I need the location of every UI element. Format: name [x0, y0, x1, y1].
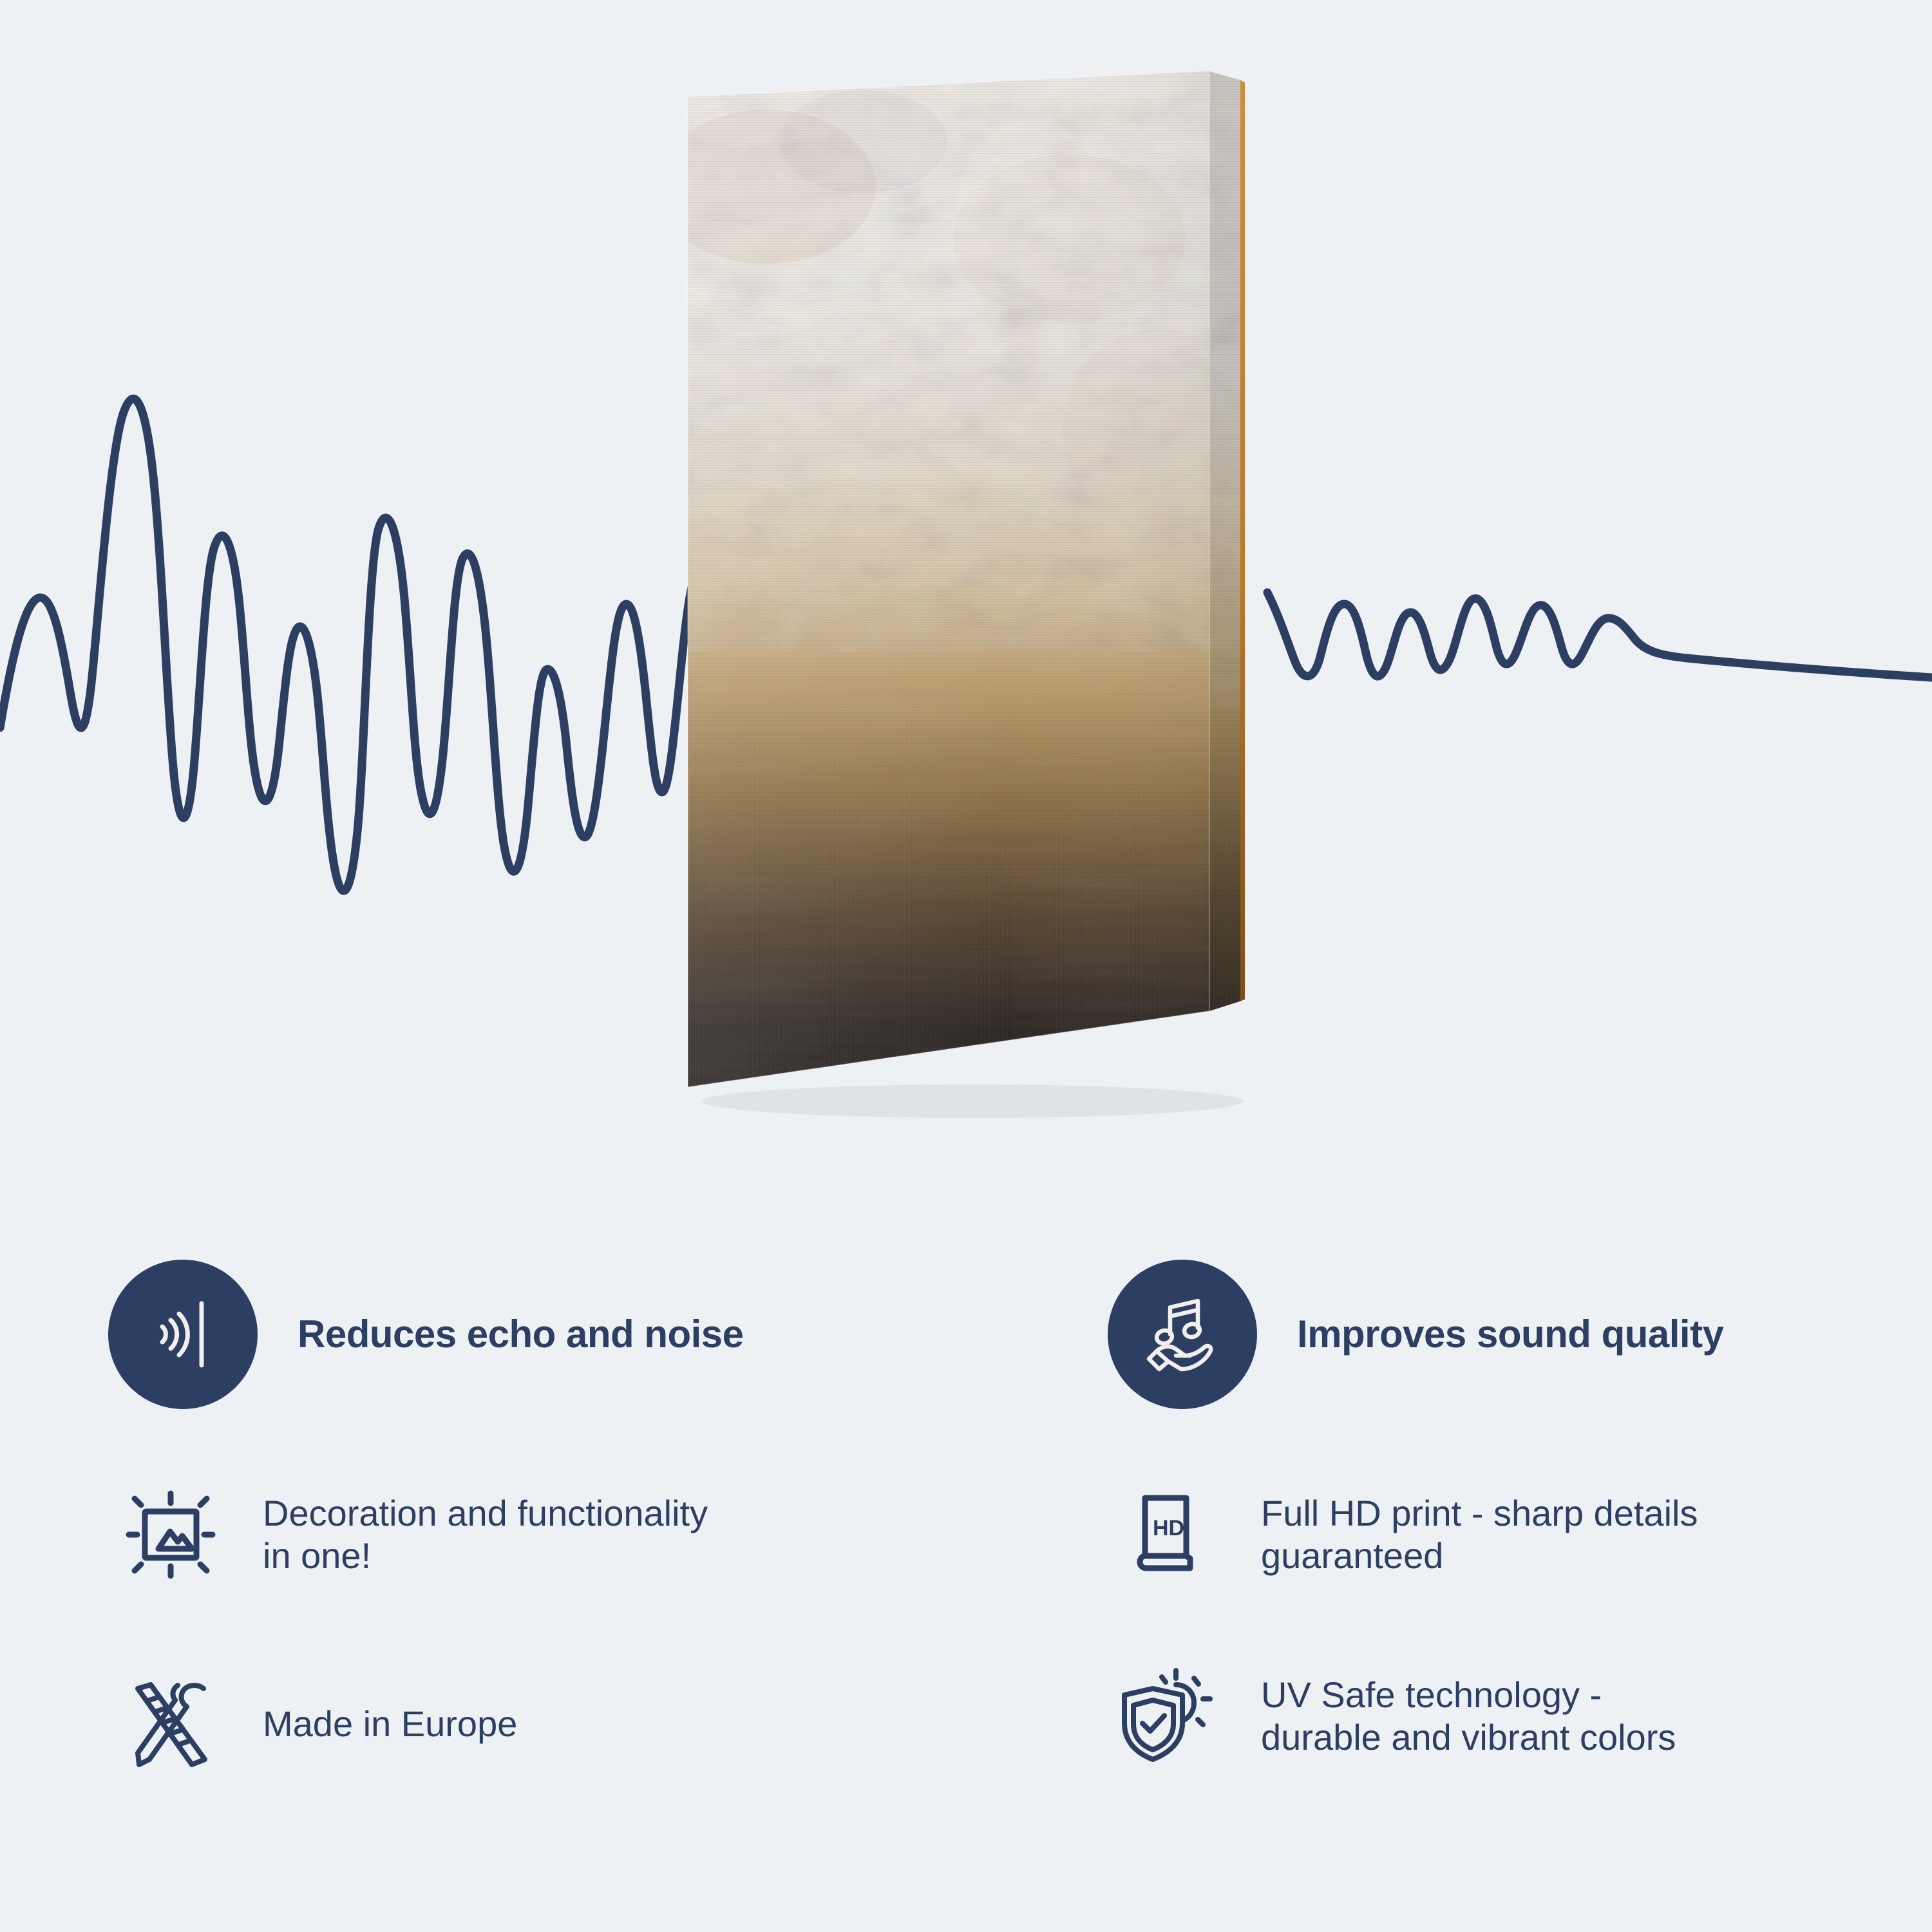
feature-title: Reduces echo and noise: [298, 1313, 744, 1356]
feature-line: durable and vibrant colors: [1261, 1716, 1676, 1759]
acoustic-canvas-panel: [670, 71, 1275, 1243]
feature-hd-print: HD Full HD print - sharp details guarant…: [1114, 1480, 1698, 1589]
echo-waves-badge: [108, 1260, 258, 1409]
ruler-hammer-icon: [116, 1669, 225, 1779]
feature-text: UV Safe technology - durable and vibrant…: [1261, 1674, 1676, 1759]
feature-improves-sound: Improves sound quality: [1108, 1260, 1723, 1409]
feature-uv-safe: UV Safe technology - durable and vibrant…: [1114, 1662, 1676, 1771]
music-note-hand-icon: [1140, 1292, 1225, 1377]
echo-waves-icon: [140, 1292, 225, 1377]
svg-text:HD: HD: [1153, 1516, 1184, 1540]
feature-title: Improves sound quality: [1297, 1313, 1723, 1356]
feature-line: in one!: [263, 1535, 708, 1577]
feature-line: Decoration and functionality: [263, 1492, 708, 1535]
feature-reduces-echo: Reduces echo and noise: [108, 1260, 744, 1409]
infographic-canvas: Reduces echo and noise: [0, 0, 1932, 1932]
feature-made-in-europe: Made in Europe: [116, 1669, 517, 1779]
feature-text: Decoration and functionality in one!: [263, 1492, 708, 1577]
feature-line: guaranteed: [1261, 1535, 1698, 1577]
feature-text: Made in Europe: [263, 1703, 517, 1745]
features-section: Reduces echo and noise: [0, 1236, 1932, 1932]
feature-line: Full HD print - sharp details: [1261, 1492, 1698, 1535]
feature-text: Full HD print - sharp details guaranteed: [1261, 1492, 1698, 1577]
feature-decoration: Decoration and functionality in one!: [116, 1480, 708, 1589]
uv-shield-sun-icon: [1114, 1662, 1224, 1771]
feature-line: Made in Europe: [263, 1703, 517, 1745]
hd-print-icon: HD: [1114, 1480, 1224, 1589]
feature-line: UV Safe technology -: [1261, 1674, 1676, 1716]
shining-picture-frame-icon: [116, 1480, 225, 1589]
music-note-hand-badge: [1108, 1260, 1257, 1409]
